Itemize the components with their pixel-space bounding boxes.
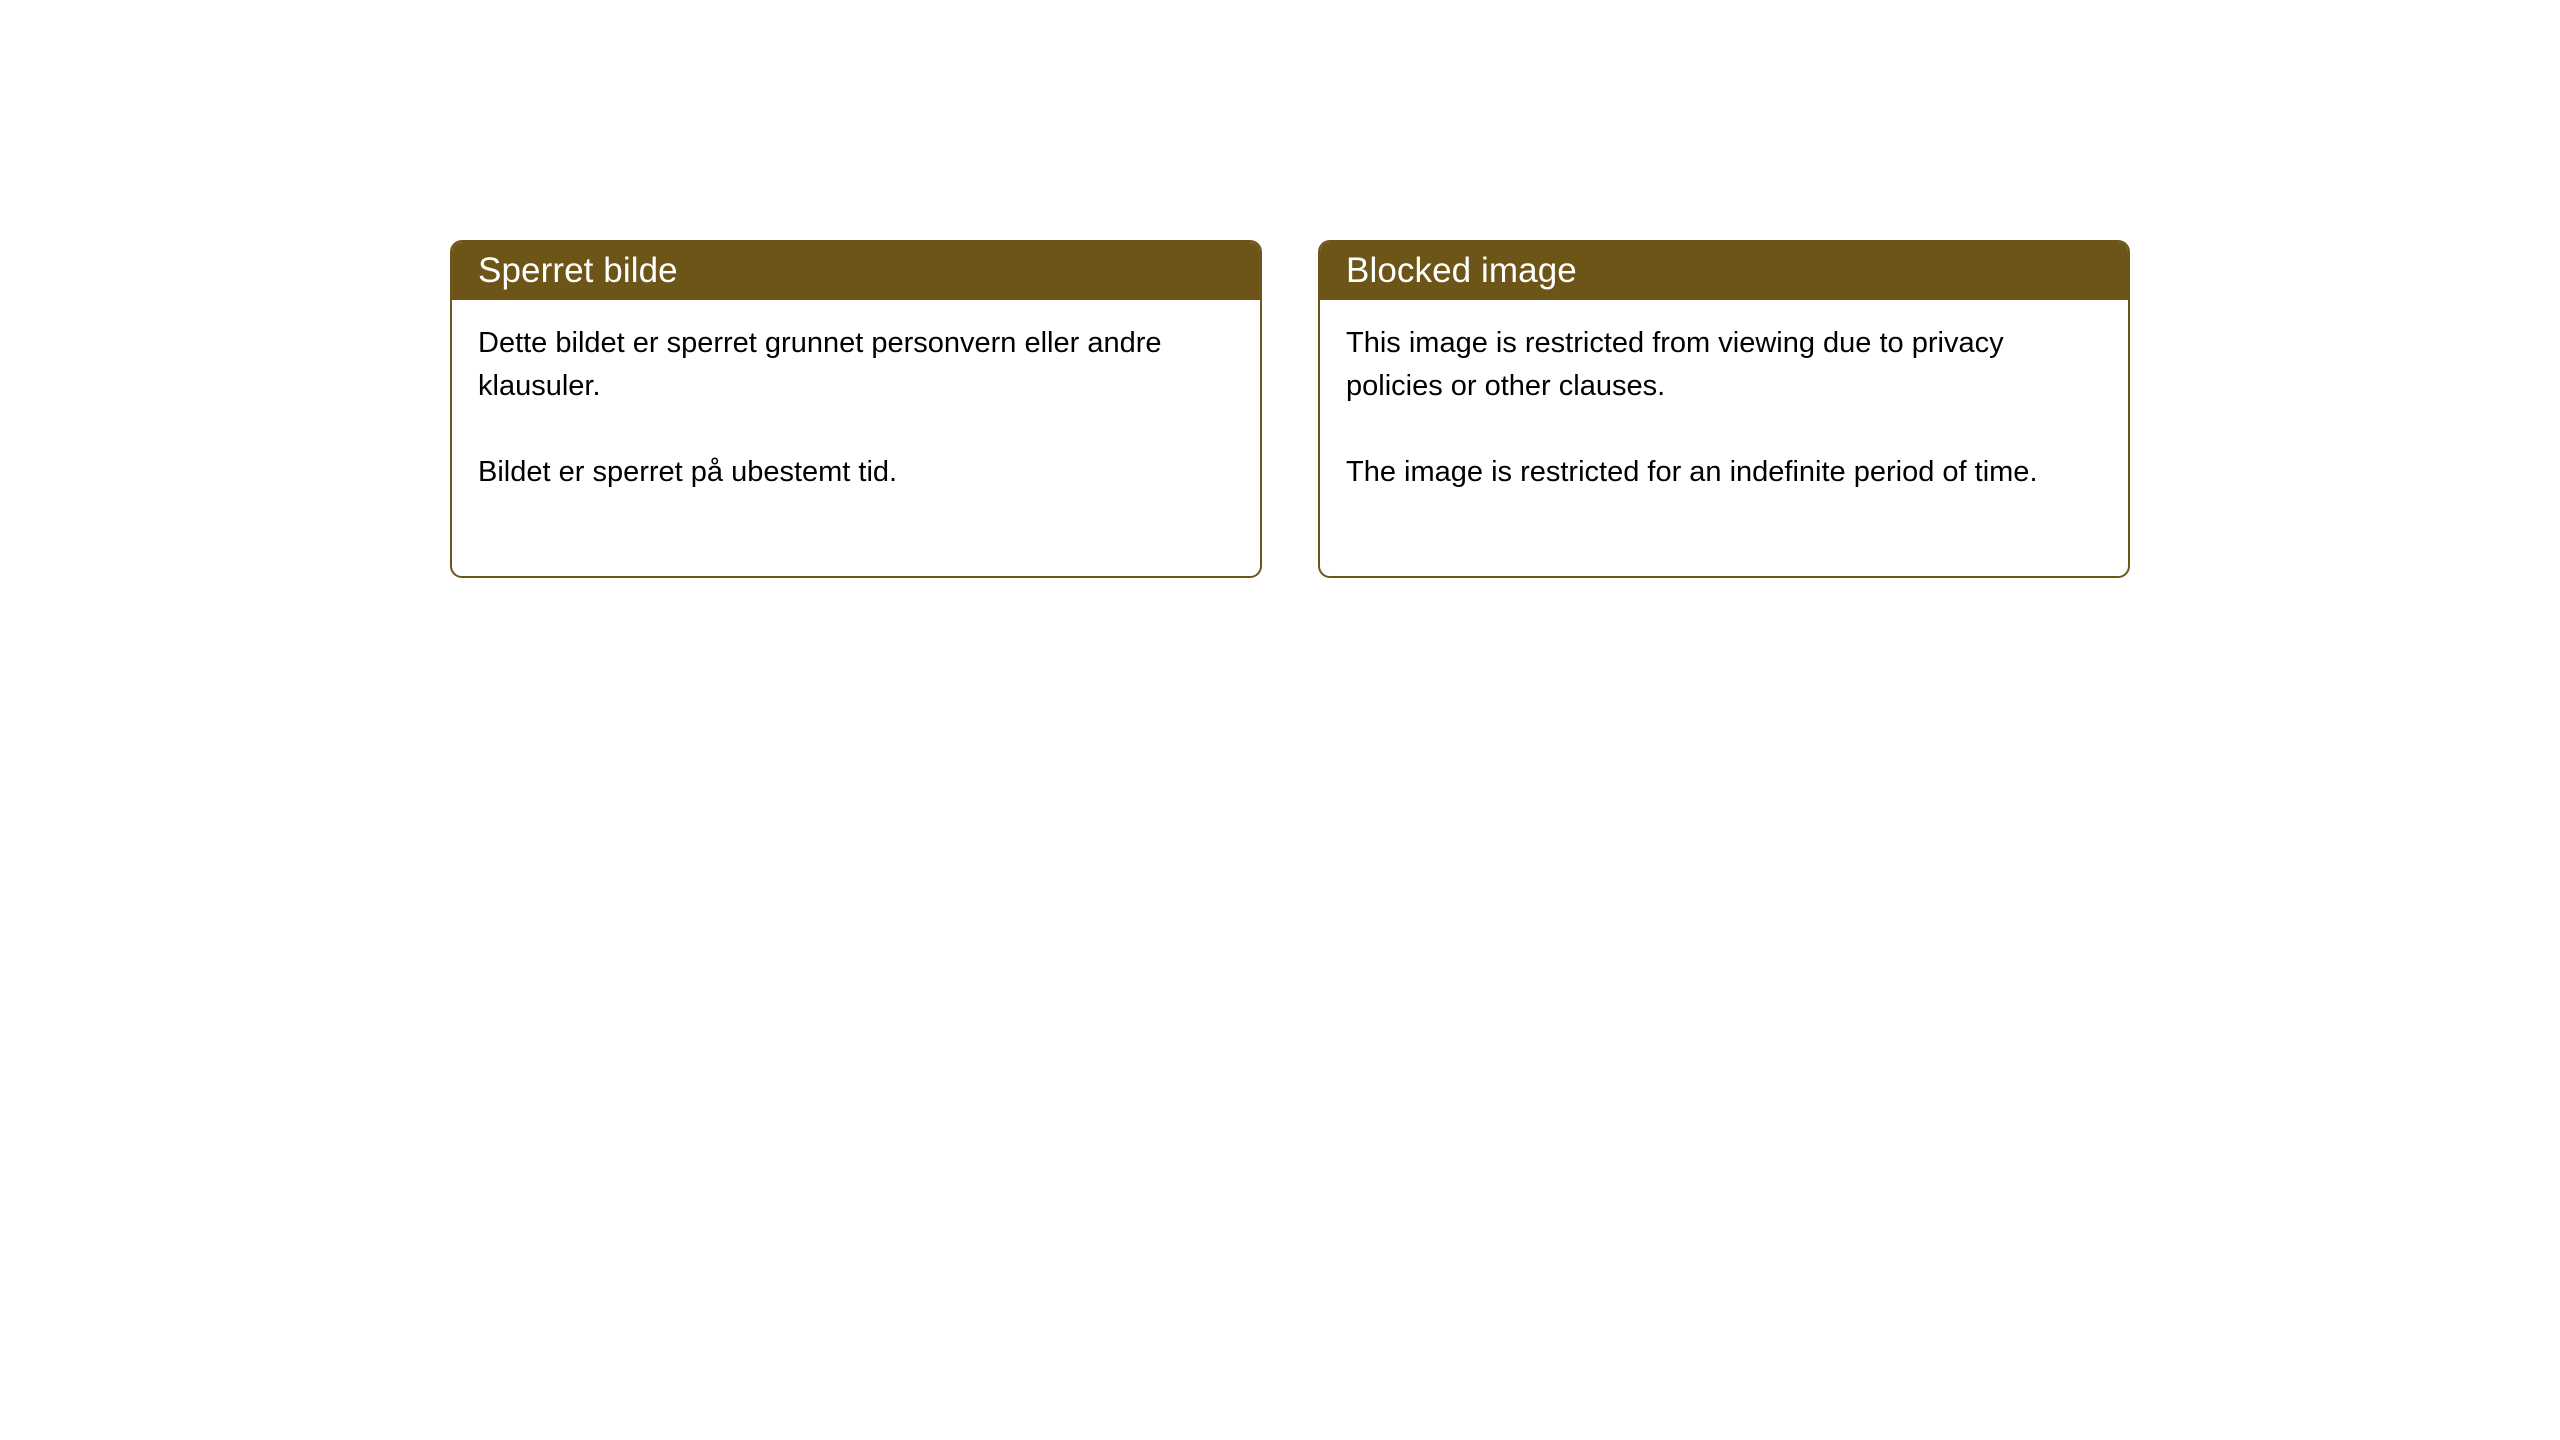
card-body: This image is restricted from viewing du… bbox=[1320, 300, 2128, 494]
card-paragraph-secondary: Bildet er sperret på ubestemt tid. bbox=[478, 451, 1234, 494]
card-paragraph-secondary: The image is restricted for an indefinit… bbox=[1346, 451, 2102, 494]
blocked-image-notice-card-english: Blocked image This image is restricted f… bbox=[1318, 240, 2130, 578]
card-paragraph-primary: Dette bildet er sperret grunnet personve… bbox=[478, 322, 1234, 408]
card-title: Sperret bilde bbox=[478, 252, 678, 290]
card-title: Blocked image bbox=[1346, 252, 1577, 290]
card-paragraph-primary: This image is restricted from viewing du… bbox=[1346, 322, 2102, 408]
card-body: Dette bildet er sperret grunnet personve… bbox=[452, 300, 1260, 494]
card-header: Sperret bilde bbox=[452, 242, 1260, 300]
card-header: Blocked image bbox=[1320, 242, 2128, 300]
page-root: Sperret bilde Dette bildet er sperret gr… bbox=[0, 0, 2560, 1440]
blocked-image-notice-card-norwegian: Sperret bilde Dette bildet er sperret gr… bbox=[450, 240, 1262, 578]
